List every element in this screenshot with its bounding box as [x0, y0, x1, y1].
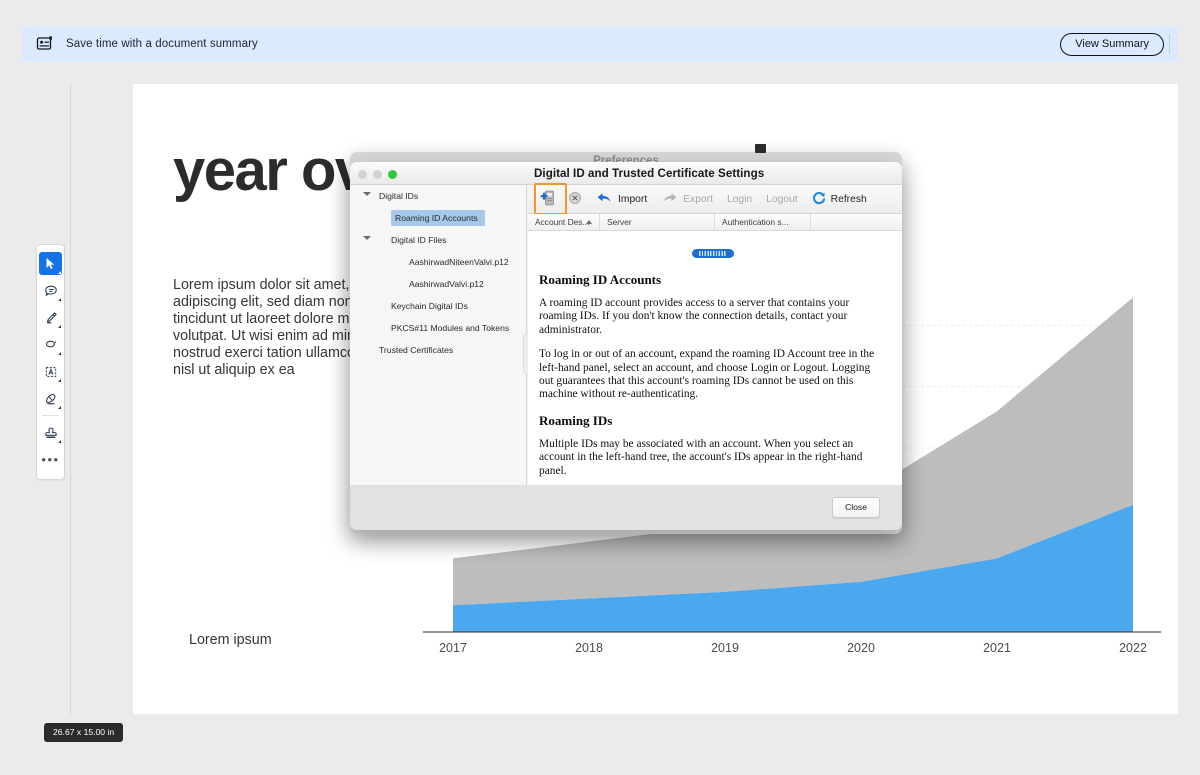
chevron-down-icon[interactable] — [363, 192, 371, 196]
close-traffic-light[interactable] — [358, 170, 367, 179]
add-id-icon — [539, 189, 556, 210]
import-arrow-icon — [596, 191, 613, 208]
dialog-titlebar: Digital ID and Trusted Certificate Setti… — [350, 162, 902, 185]
tree-item[interactable]: Trusted Certificates — [350, 339, 526, 361]
tree-item-label: Digital IDs — [379, 191, 418, 201]
export-button[interactable]: Export — [654, 189, 720, 210]
chevron-down-icon — [58, 352, 61, 355]
login-label: Login — [727, 194, 752, 205]
tree-item[interactable]: Keychain Digital IDs — [350, 295, 526, 317]
chart-x-tick-label: 2017 — [439, 641, 467, 655]
table-column-header: Account Des...ServerAuthentication s... — [528, 214, 902, 231]
dialog-toolbar: Import Export Login Logout — [528, 185, 902, 214]
redact-tool[interactable] — [39, 387, 62, 410]
help-content-pane: Roaming ID Accounts A roaming ID account… — [528, 232, 902, 508]
banner-divider — [1169, 34, 1170, 54]
tree-item[interactable]: AashirwadNiteenValvi.p12 — [350, 251, 526, 273]
tree-item[interactable]: PKCS#11 Modules and Tokens — [350, 317, 526, 339]
tree-item-label: Roaming ID Accounts — [391, 210, 485, 226]
login-button[interactable]: Login — [720, 192, 759, 207]
digital-id-tree: Digital IDsRoaming ID AccountsDigital ID… — [350, 185, 527, 508]
view-summary-button[interactable]: View Summary — [1060, 33, 1164, 56]
tree-item[interactable]: Roaming ID Accounts — [350, 207, 526, 229]
content-paragraph-2: To log in or out of an account, expand t… — [539, 348, 886, 402]
close-button[interactable]: Close — [832, 497, 880, 518]
chart-x-tick-label: 2022 — [1119, 641, 1147, 655]
export-arrow-icon — [661, 191, 678, 208]
digital-id-settings-dialog: Digital ID and Trusted Certificate Setti… — [350, 162, 902, 530]
tree-item[interactable]: AashirwadValvi.p12 — [350, 273, 526, 295]
add-id-button[interactable] — [534, 187, 561, 212]
export-label: Export — [683, 194, 713, 205]
detail-panel: Import Export Login Logout — [528, 185, 902, 508]
content-paragraph-1: A roaming ID account provides access to … — [539, 297, 886, 337]
chevron-down-icon — [58, 406, 61, 409]
column-header[interactable]: Account Des... — [528, 214, 600, 231]
chart-x-tick-label: 2020 — [847, 641, 875, 655]
tree-item-label: AashirwadNiteenValvi.p12 — [409, 257, 509, 267]
draw-tool[interactable] — [39, 333, 62, 356]
sort-ascending-icon — [586, 220, 592, 224]
refresh-label: Refresh — [831, 194, 867, 205]
decorative-pill-badge — [692, 249, 734, 258]
chevron-down-icon — [58, 379, 61, 382]
stamp-tool[interactable] — [39, 421, 62, 444]
chart-x-tick-label: 2019 — [711, 641, 739, 655]
tree-item-label: PKCS#11 Modules and Tokens — [391, 323, 509, 333]
chevron-down-icon — [58, 298, 61, 301]
dialog-footer: Close — [350, 485, 902, 530]
import-label: Import — [618, 194, 647, 205]
banner-message: Save time with a document summary — [66, 38, 258, 50]
dialog-body: Digital IDsRoaming ID AccountsDigital ID… — [350, 185, 902, 530]
text-box-tool[interactable] — [39, 360, 62, 383]
column-header-label: Server — [607, 217, 632, 227]
zoom-traffic-light[interactable] — [388, 170, 397, 179]
ellipsis-icon: ••• — [41, 456, 59, 464]
tree-item[interactable]: Digital IDs — [350, 185, 526, 207]
chevron-down-icon[interactable] — [363, 236, 371, 240]
page-footer-text: Lorem ipsum — [189, 632, 272, 648]
document-summary-banner: Save time with a document summary View S… — [22, 26, 1178, 62]
tool-rail-divider — [70, 84, 71, 714]
chevron-down-icon — [58, 325, 61, 328]
preferences-close-widget[interactable] — [755, 144, 766, 153]
content-paragraph-3: Multiple IDs may be associated with an a… — [539, 438, 886, 478]
column-header[interactable]: Authentication s... — [715, 214, 811, 231]
refresh-icon — [812, 191, 826, 208]
tree-item-label: Keychain Digital IDs — [391, 301, 468, 311]
logout-label: Logout — [766, 194, 798, 205]
chart-x-tick-label: 2021 — [983, 641, 1011, 655]
highlight-tool[interactable] — [39, 306, 62, 329]
import-button[interactable]: Import — [589, 189, 654, 210]
tree-item-label: Digital ID Files — [391, 235, 446, 245]
dialog-title: Digital ID and Trusted Certificate Setti… — [534, 167, 764, 180]
logout-button[interactable]: Logout — [759, 192, 805, 207]
toolbar-divider — [42, 415, 59, 416]
minimize-traffic-light[interactable] — [373, 170, 382, 179]
remove-id-icon — [568, 191, 582, 208]
refresh-button[interactable]: Refresh — [805, 189, 874, 210]
tree-item-label: AashirwadValvi.p12 — [409, 279, 484, 289]
more-tools-button[interactable]: ••• — [39, 448, 62, 471]
chart-x-tick-label: 2018 — [575, 641, 603, 655]
annotation-toolbar: ••• — [36, 244, 65, 480]
column-header[interactable]: Server — [600, 214, 715, 231]
page-size-status-chip: 26.67 x 15.00 in — [44, 723, 123, 742]
chevron-down-icon — [58, 440, 61, 443]
content-heading-1: Roaming ID Accounts — [539, 272, 886, 288]
chevron-down-icon — [58, 271, 61, 274]
page-title: year ov — [173, 142, 366, 200]
content-heading-2: Roaming IDs — [539, 413, 886, 429]
select-tool[interactable] — [39, 252, 62, 275]
remove-id-button[interactable] — [561, 189, 589, 210]
column-header-label: Account Des... — [535, 217, 589, 227]
column-header-label: Authentication s... — [722, 217, 789, 227]
comment-tool[interactable] — [39, 279, 62, 302]
document-summary-icon — [36, 35, 54, 53]
tree-item[interactable]: Digital ID Files — [350, 229, 526, 251]
tree-item-label: Trusted Certificates — [379, 345, 453, 355]
